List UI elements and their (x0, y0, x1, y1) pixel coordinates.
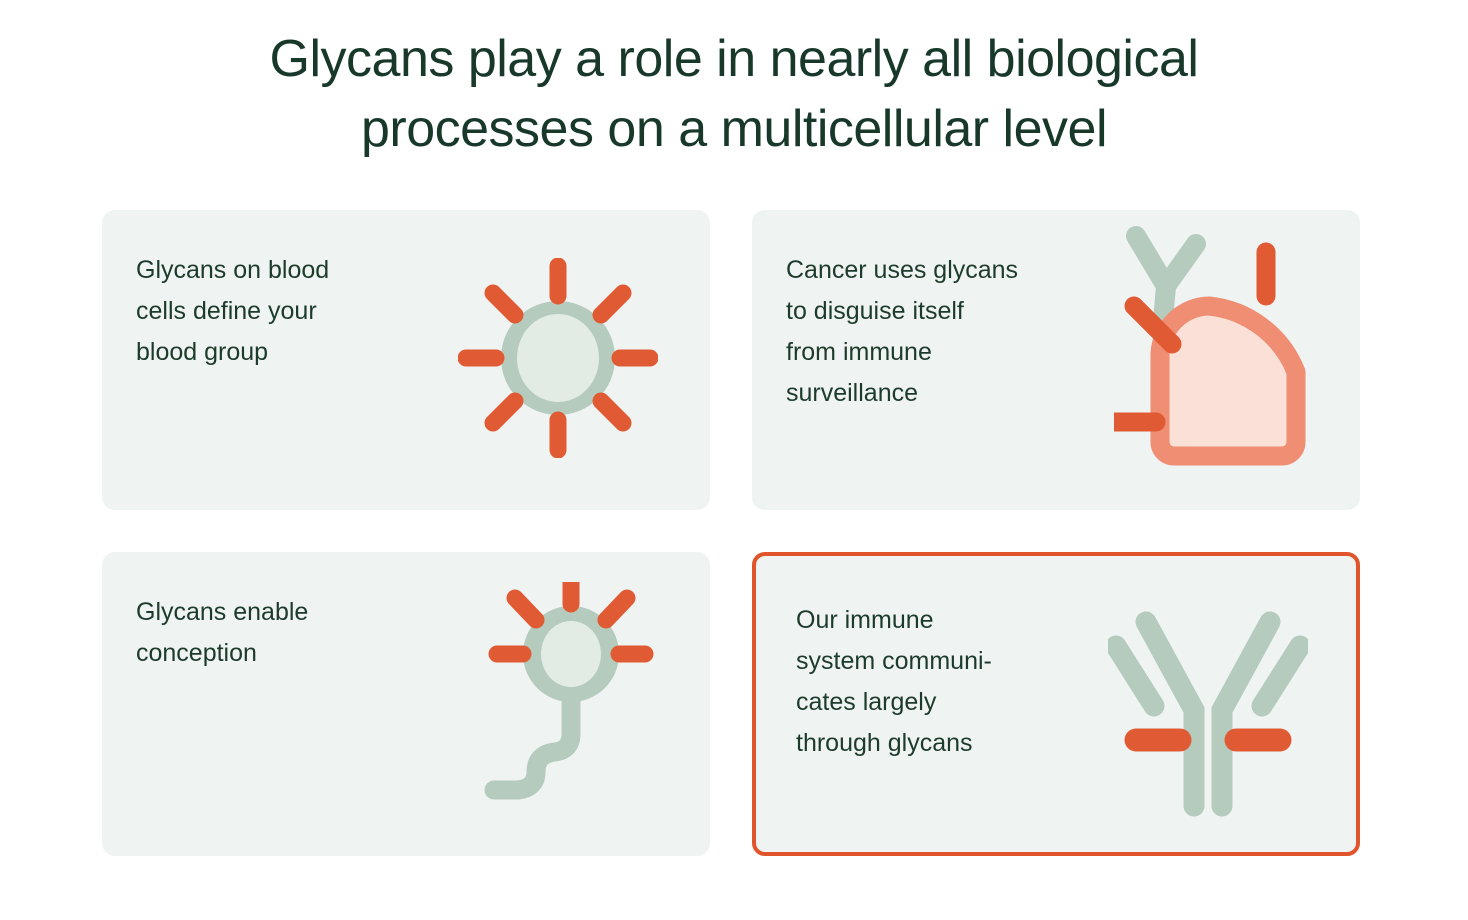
page-title: Glycans play a role in nearly all biolog… (110, 24, 1358, 164)
card-immune-communication-text: Our immune system communi- cates largely… (796, 600, 1106, 764)
sperm-cell-icon (450, 582, 660, 832)
card-cancer-disguise[interactable]: Cancer uses glycans to disguise itself f… (752, 210, 1360, 510)
card-blood-group-text: Glycans on blood cells define your blood… (136, 250, 446, 373)
card-conception[interactable]: Glycans enable conception (102, 552, 710, 856)
blood-cell-icon (458, 258, 658, 458)
card-grid: Glycans on blood cells define your blood… (102, 210, 1360, 856)
card-immune-communication[interactable]: Our immune system communi- cates largely… (752, 552, 1360, 856)
card-cancer-disguise-text: Cancer uses glycans to disguise itself f… (786, 250, 1096, 414)
card-blood-group[interactable]: Glycans on blood cells define your blood… (102, 210, 710, 510)
card-conception-text: Glycans enable conception (136, 592, 446, 674)
antibody-icon (1108, 606, 1308, 821)
cancer-cell-icon (1114, 224, 1314, 474)
